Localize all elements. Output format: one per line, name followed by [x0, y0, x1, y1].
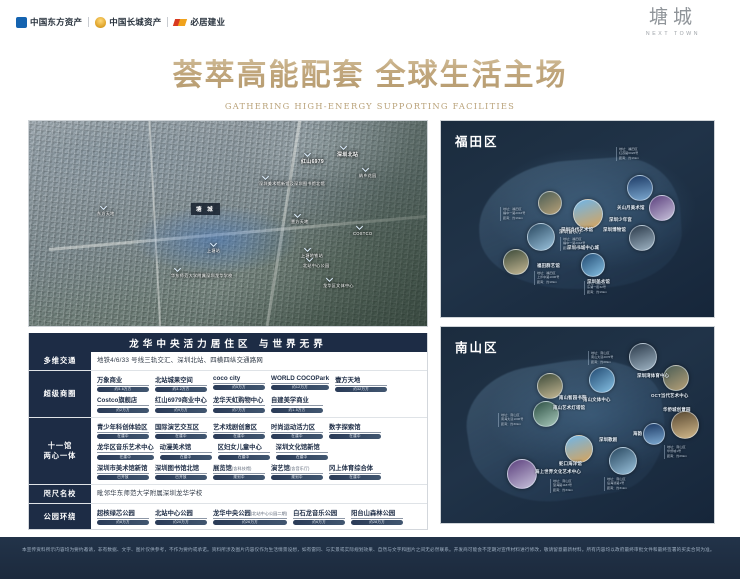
table-row-label: 十一馆两心一体: [29, 418, 91, 485]
landmark-label: 南山艺术灯塔馆: [553, 405, 585, 411]
landmark-description: 地址：南山区 南山大道2076号 距离：约28km: [591, 351, 613, 364]
facility-chip[interactable]: WORLD COCOPark约12万方: [271, 375, 329, 393]
location-pin-icon: [326, 275, 333, 282]
aerial-map-label: 华东师范大学附属深圳龙华学校: [171, 273, 233, 279]
headline-block: 荟萃高能配套全球生活主场 GATHERING HIGH-ENERGY SUPPO…: [0, 50, 740, 111]
district-title-futian: 福田区: [455, 131, 499, 150]
facility-chip[interactable]: 数字探索馆在建中: [329, 422, 381, 440]
table-row: 公园环绕超核绿芯公园约8万方北站中心公园约20万方龙华中央公园(北站中心公园二期…: [29, 503, 427, 530]
facility-chip[interactable]: 动漫美术馆在建中: [160, 442, 212, 460]
aerial-map-image: 深圳北站红山6979纳乡花园深圳美术馆新馆及深圳图书馆北馆壹方天地COSTCO东…: [28, 120, 428, 327]
facility-chip-metric: 在建中: [155, 434, 207, 439]
facility-chip-name: 深圳图书馆北馆: [155, 463, 207, 474]
logo-great-wall-label: 中国长城资产: [109, 16, 161, 28]
connector-line: [498, 413, 499, 427]
landmark-photo-node[interactable]: [503, 249, 529, 275]
landmark-photo-node[interactable]: [649, 195, 675, 221]
aerial-map-label: 纳乡花园: [359, 173, 377, 179]
landmark-photo-node[interactable]: [565, 435, 593, 463]
landmark-label: 南山智园书院: [559, 395, 587, 401]
connector-line: [616, 147, 617, 161]
facility-chip[interactable]: 超核绿芯公园约8万方: [97, 508, 149, 526]
facility-chip-name: 白石龙音乐公园: [293, 508, 345, 519]
aerial-map-label: 红山6979: [301, 158, 324, 165]
facility-chip-name: 冈上体育综合体: [329, 463, 381, 474]
aerial-map-label: 壹方天地: [291, 219, 309, 225]
facility-chip-metric: 约26万方: [213, 520, 287, 525]
facility-chip[interactable]: 北站中心公园约20万方: [155, 508, 207, 526]
facility-chip-name: WORLD COCOPark: [271, 375, 329, 384]
landmark-description: 地址：福田区 东湖一街32号 距离：约19km: [587, 281, 607, 294]
aerial-map-label: 东方天地: [97, 211, 115, 217]
facility-chip-name: 红山6979商业中心: [155, 395, 207, 406]
brand-name-cn: 塘城: [628, 8, 718, 28]
facility-chip-metric: 在建中: [271, 434, 323, 439]
facility-chip-metric: 约20万方: [155, 520, 207, 525]
facility-chip[interactable]: coco city约5万方: [213, 375, 265, 393]
facility-chip-metric: 已开放: [97, 475, 149, 480]
gold-drop-logo-icon: [95, 17, 106, 28]
landmark-label: 华侨城创意园: [663, 407, 691, 413]
facility-chip-metric: 规划中: [271, 475, 323, 480]
facility-chip-name: 展览馆(含科技馆): [213, 463, 265, 474]
landmark-photo-node[interactable]: [629, 343, 657, 371]
facility-chip[interactable]: 国际演艺交互区在建中: [155, 422, 207, 440]
logo-china-orient: 中国东方资产: [16, 16, 82, 28]
landmark-photo-node[interactable]: [538, 191, 562, 215]
connector-line: [560, 237, 561, 251]
facility-chip[interactable]: 红山6979商业中心约9万方: [155, 395, 207, 413]
road-line: [148, 120, 162, 327]
table-row: 超级商圈万象商业约5.6万方北站城果空间约3.2万方coco city约5万方W…: [29, 370, 427, 417]
facility-chip-metric: 约12万方: [271, 385, 329, 390]
landmark-label: 深圳博物馆: [603, 227, 626, 233]
connector-line: [604, 477, 605, 491]
location-pin-icon: [356, 223, 363, 230]
connector-line: [664, 445, 665, 459]
aerial-map-label: 龙华区文体中心: [323, 283, 354, 289]
facility-chip-metric: 在建中: [97, 434, 149, 439]
facility-chip-note: (北站中心公园二期): [251, 511, 287, 516]
facility-chip-metric: 约9万方: [155, 408, 207, 413]
facilities-table: 龙华中央活力居住区 与世界无界 多维交通地铁4/6/33 号线三轨交汇、深圳北站…: [28, 333, 428, 530]
facility-chip[interactable]: 北站城果空间约3.2万方: [155, 375, 207, 393]
facility-chip-name: 超核绿芯公园: [97, 508, 149, 519]
table-row-content: 超核绿芯公园约8万方北站中心公园约20万方龙华中央公园(北站中心公园二期)约26…: [91, 504, 427, 530]
facility-chip[interactable]: 深圳市美术馆新馆已开放: [97, 463, 149, 481]
facility-chip[interactable]: 时尚运动活力区在建中: [271, 422, 323, 440]
headline-part-1: 荟萃高能配套: [173, 58, 365, 93]
facility-chip-metric: 约32万方: [335, 387, 387, 392]
location-pin-icon: [262, 173, 269, 180]
facility-chip-name: 深圳文化馆新馆: [276, 442, 328, 453]
landmark-description: 地址：南山区 南海大道1006号 距离：约30km: [501, 413, 523, 426]
facility-chip-name: 阳台山森林公园: [351, 508, 403, 519]
facility-chip-metric: 在建中: [97, 455, 154, 460]
table-row-label: 多维交通: [29, 352, 91, 370]
facility-chip[interactable]: 区妇女儿童中心在建中: [218, 442, 270, 460]
table-row-label: 咫尺名校: [29, 485, 91, 503]
facility-chip-name: 自建美学商业: [271, 395, 323, 406]
facility-chip-metric: 约2万方: [97, 408, 149, 413]
landmark-photo-node[interactable]: [527, 223, 555, 251]
facility-chip-name: coco city: [213, 375, 265, 384]
facility-chip-metric: 在建中: [329, 475, 381, 480]
location-pin-icon: [100, 203, 107, 210]
district-panel-nanshan[interactable]: 南山区 南山文体中心地址：南山区 南山大道2076号 距离：约28km深圳湾体育…: [440, 326, 715, 524]
facility-chip-name: 动漫美术馆: [160, 442, 212, 453]
logo-great-wall: 中国长城资产: [95, 16, 161, 28]
red-ribbon-logo-icon: [174, 17, 187, 28]
left-column: 深圳北站红山6979纳乡花园深圳美术馆新馆及深圳图书馆北馆壹方天地COSTCO东…: [28, 120, 428, 530]
connector-line: [534, 271, 535, 285]
facility-chip[interactable]: 白石龙音乐公园约6万方: [293, 508, 345, 526]
landmark-description: 地址：南山区 后海滨路1号 距离：约31km: [607, 477, 627, 490]
facility-chip[interactable]: 深圳文化馆新馆在建中: [276, 442, 328, 460]
table-row: 十一馆两心一体青少年科创体验区在建中国际演艺交互区在建中艺术戏剧创意区在建中时尚…: [29, 417, 427, 485]
facility-chip[interactable]: 自建美学商业约1.5万方: [271, 395, 323, 413]
table-chip-row: 青少年科创体验区在建中国际演艺交互区在建中艺术戏剧创意区在建中时尚运动活力区在建…: [97, 422, 421, 440]
facility-chip[interactable]: 龙华天虹购物中心约7万方: [213, 395, 265, 413]
facility-chip-metric: 约8万方: [97, 520, 149, 525]
logo-divider: [88, 17, 89, 27]
facility-chip-note: (含科技馆): [232, 466, 252, 471]
facility-chip[interactable]: 龙华区音乐艺术中心在建中: [97, 442, 154, 460]
connector-line: [550, 479, 551, 493]
location-pin-icon: [362, 165, 369, 172]
brand-name-en: NEXT TOWN: [628, 31, 718, 37]
landmark-description: 地址：福田区 福中一路2016号 距离：约16km: [503, 207, 525, 220]
landmark-photo-node[interactable]: [627, 175, 653, 201]
facility-chip-metric: 约3.2万方: [155, 387, 207, 392]
aerial-map-label: 北站中心公园: [303, 263, 329, 269]
logo-china-orient-label: 中国东方资产: [30, 16, 82, 28]
location-pin-icon: [210, 240, 217, 247]
landmark-label: 蛇口海洋馆: [559, 461, 582, 467]
right-column: 福田区 深圳音乐厅地址：福田区 福中一路2016号 距离：约16km关山月美术馆…: [440, 120, 715, 524]
landmark-photo-node[interactable]: [671, 411, 699, 439]
facility-chip-metric: 在建中: [218, 455, 270, 460]
connector-line: [584, 281, 585, 295]
facility-chip[interactable]: 壹方天地约32万方: [335, 375, 387, 393]
facility-chip-name: 深圳市美术馆新馆: [97, 463, 149, 474]
landmark-photo-node[interactable]: [589, 367, 615, 393]
facility-chip-name: 国际演艺交互区: [155, 422, 207, 433]
district-title-nanshan: 南山区: [455, 337, 499, 356]
landmark-label: 海上世界文化艺术中心: [535, 469, 581, 475]
table-row-content: 青少年科创体验区在建中国际演艺交互区在建中艺术戏剧创意区在建中时尚运动活力区在建…: [91, 418, 427, 485]
facility-chip-metric: 约1.5万方: [271, 408, 323, 413]
location-pin-icon: [340, 143, 347, 150]
facility-chip-metric: 已开放: [155, 475, 207, 480]
district-panel-futian[interactable]: 福田区 深圳音乐厅地址：福田区 福中一路2016号 距离：约16km关山月美术馆…: [440, 120, 715, 318]
landmark-label: 深圳湾体育中心: [637, 373, 669, 379]
landmark-label: 深圳当代艺术馆: [561, 227, 593, 233]
table-row-label: 超级商圈: [29, 371, 91, 417]
facility-chip-metric: 在建中: [213, 434, 265, 439]
facility-chip-metric: 在建中: [276, 455, 328, 460]
landmark-label: 关山月美术馆: [617, 205, 645, 211]
landmark-label: 深圳少年宫: [609, 217, 632, 223]
facility-chip-metric: 约5万方: [213, 385, 265, 390]
landmark-label: 南山文体中心: [583, 397, 611, 403]
facility-chip[interactable]: 展览馆(含科技馆)规划中: [213, 463, 265, 481]
table-cell-text: 毗邻华东师范大学附属深圳龙华学校: [97, 489, 421, 499]
table-chip-row: 万象商业约5.6万方北站城果空间约3.2万方coco city约5万方WORLD…: [97, 375, 421, 393]
facility-chip-metric: 约28万方: [351, 520, 403, 525]
facility-chip[interactable]: 冈上体育综合体在建中: [329, 463, 381, 481]
facility-chip-name: 艺术戏剧创意区: [213, 422, 265, 433]
landmark-label: 福田群艺馆: [537, 263, 560, 269]
connector-line: [588, 351, 589, 365]
facility-chip[interactable]: Costco旗舰店约2万方: [97, 395, 149, 413]
facility-chip[interactable]: 龙华中央公园(北站中心公园二期)约26万方: [213, 508, 287, 526]
table-cell-text: 地铁4/6/33 号线三轨交汇、深圳北站、四横四纵交通路网: [97, 356, 421, 366]
poster-page: 中国东方资产 中国长城资产 必居建业 塘城 NEXT TOWN 荟萃高能配套全球…: [0, 0, 740, 579]
facility-chip-metric: 约7万方: [213, 408, 265, 413]
facility-chip-name: 区妇女儿童中心: [218, 442, 270, 453]
facility-chip-metric: 在建中: [160, 455, 212, 460]
landmark-description: 地址：福田区 福中一路2018号 距离：约17km: [563, 237, 585, 250]
facility-chip-name: 龙华中央公园(北站中心公园二期): [213, 508, 287, 519]
facilities-table-title: 龙华中央活力居住区 与世界无界: [129, 336, 327, 350]
headline-part-2: 全球生活主场: [376, 58, 568, 93]
page-title: 荟萃高能配套全球生活主场: [173, 50, 568, 94]
location-pin-icon: [304, 150, 311, 157]
facility-chip-name: 演艺馆(含音乐厅): [271, 463, 323, 474]
facility-chip-metric: 在建中: [329, 434, 381, 439]
table-chip-row: 超核绿芯公园约8万方北站中心公园约20万方龙华中央公园(北站中心公园二期)约26…: [97, 508, 421, 526]
facility-chip-name: 龙华区音乐艺术中心: [97, 442, 154, 453]
square-blue-logo-icon: [16, 17, 27, 28]
landmark-label: 深圳歌剧: [599, 437, 617, 443]
table-chip-row: Costco旗舰店约2万方红山6979商业中心约9万方龙华天虹购物中心约7万方自…: [97, 395, 421, 413]
facility-chip-metric: 约6万方: [293, 520, 345, 525]
developer-logo-group: 中国东方资产 中国长城资产 必居建业: [16, 16, 225, 28]
aerial-map-label: COSTCO: [353, 231, 372, 236]
aerial-map-label: 深圳美术馆新馆及深圳图书馆北馆: [259, 181, 325, 187]
landmark-photo-node[interactable]: [609, 447, 637, 475]
landmark-description: 地址：福田区 红荔路6026号 距离：约16km: [619, 147, 639, 160]
facility-chip-name: 北站中心公园: [155, 508, 207, 519]
landmark-photo-node[interactable]: [643, 423, 665, 445]
landmark-label: 海韵: [633, 431, 642, 437]
facility-chip-name: 时尚运动活力区: [271, 422, 323, 433]
facility-chip-name: 龙华天虹购物中心: [213, 395, 265, 406]
facility-chip-name: 青少年科创体验区: [97, 422, 149, 433]
landmark-photo-node[interactable]: [507, 459, 537, 489]
facility-chip[interactable]: 演艺馆(含音乐厅)规划中: [271, 463, 323, 481]
table-row-label: 公园环绕: [29, 504, 91, 530]
facility-chip[interactable]: 万象商业约5.6万方: [97, 375, 149, 393]
disclaimer-text: 本宣传资料所示内容均为要约邀请，非有数据、文字、图片仅供参考，不作为要约或承诺。…: [22, 546, 718, 554]
facility-chip-name: Costco旗舰店: [97, 395, 149, 406]
table-row-content: 毗邻华东师范大学附属深圳龙华学校: [91, 485, 427, 503]
logo-biju-jianye-label: 必居建业: [190, 16, 225, 28]
facilities-table-body: 多维交通地铁4/6/33 号线三轨交汇、深圳北站、四横四纵交通路网超级商圈万象商…: [29, 352, 427, 529]
facility-chip-name: 壹方天地: [335, 375, 387, 386]
facility-chip-name: 北站城果空间: [155, 375, 207, 386]
facility-chip-metric: 规划中: [213, 475, 265, 480]
facility-chip-name: 数字探索馆: [329, 422, 381, 433]
facility-chip[interactable]: 阳台山森林公园约28万方: [351, 508, 403, 526]
logo-divider: [167, 17, 168, 27]
landmark-photo-node[interactable]: [629, 225, 655, 251]
aerial-map-label: 上塘站: [207, 248, 220, 254]
brand-logo: 塘城 NEXT TOWN: [628, 8, 718, 37]
facility-chip[interactable]: 青少年科创体验区在建中: [97, 422, 149, 440]
landmark-photo-node[interactable]: [581, 253, 605, 277]
location-pin-icon: [174, 265, 181, 272]
table-row-content: 地铁4/6/33 号线三轨交汇、深圳北站、四横四纵交通路网: [91, 352, 427, 370]
aerial-project-badge: 塘 城: [191, 203, 220, 215]
location-pin-icon: [294, 211, 301, 218]
facility-chip-name: 万象商业: [97, 375, 149, 386]
connector-line: [500, 207, 501, 221]
landmark-label: OCT当代艺术中心: [651, 393, 688, 399]
top-logo-bar: 中国东方资产 中国长城资产 必居建业 塘城 NEXT TOWN: [0, 0, 740, 44]
landmark-description: 地址：南山区 华侨城1号 距离：约29km: [667, 445, 687, 458]
page-subtitle: GATHERING HIGH-ENERGY SUPPORTING FACILIT…: [0, 101, 740, 111]
table-row: 多维交通地铁4/6/33 号线三轨交汇、深圳北站、四横四纵交通路网: [29, 352, 427, 370]
table-chip-row: 深圳市美术馆新馆已开放深圳图书馆北馆已开放展览馆(含科技馆)规划中演艺馆(含音乐…: [97, 463, 421, 481]
location-pin-icon: [304, 245, 311, 252]
table-row-content: 万象商业约5.6万方北站城果空间约3.2万方coco city约5万方WORLD…: [91, 371, 427, 417]
facility-chip-note: (含音乐厅): [290, 466, 310, 471]
landmark-photo-node[interactable]: [573, 199, 603, 229]
facility-chip[interactable]: 深圳图书馆北馆已开放: [155, 463, 207, 481]
landmark-description: 地址：南山区 望海路1187号 距离：约33km: [553, 479, 573, 492]
table-row: 咫尺名校毗邻华东师范大学附属深圳龙华学校: [29, 484, 427, 503]
landmark-description: 地址：福田区 上步中路1006号 距离：约18km: [537, 271, 559, 284]
facility-chip[interactable]: 艺术戏剧创意区在建中: [213, 422, 265, 440]
facilities-table-header: 龙华中央活力居住区 与世界无界: [29, 333, 427, 352]
table-chip-row: 龙华区音乐艺术中心在建中动漫美术馆在建中区妇女儿童中心在建中深圳文化馆新馆在建中: [97, 442, 421, 460]
facility-chip-metric: 约5.6万方: [97, 387, 149, 392]
logo-biju-jianye: 必居建业: [174, 16, 225, 28]
footer-disclaimer-bar: 本宣传资料所示内容均为要约邀请，非有数据、文字、图片仅供参考，不作为要约或承诺。…: [0, 537, 740, 579]
aerial-map-label: 深圳北站: [337, 151, 358, 158]
